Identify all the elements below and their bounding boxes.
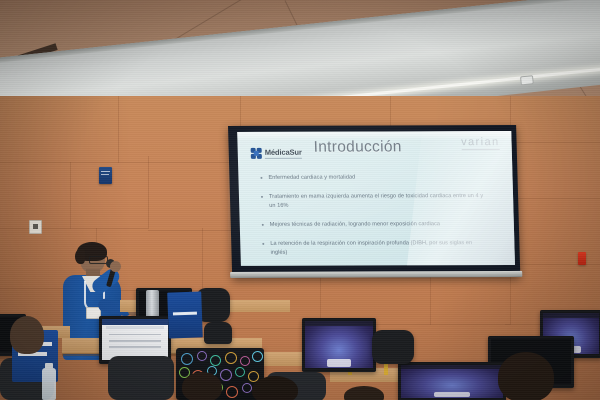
monitor-front-center — [302, 318, 376, 372]
presentation-slide: MédicaSur Introducción varian Enfermedad… — [237, 131, 515, 266]
wall-sign — [99, 167, 112, 184]
monitor-bottom-right — [398, 362, 506, 400]
varian-logo: varian — [461, 136, 500, 150]
varian-logo-rule — [461, 149, 499, 150]
slide-bullet-list: Enfermedad cardiaca y mortalidad Tratami… — [260, 173, 489, 266]
slide-bullet: Tratamiento en mama izquierda aumenta el… — [261, 192, 488, 211]
projection-screen: MédicaSur Introducción varian Enfermedad… — [228, 125, 520, 278]
fire-alarm-icon — [578, 252, 586, 265]
varian-logo-text: varian — [461, 136, 500, 148]
attendee-head-bottom — [344, 386, 384, 400]
presentation-room-photo: MédicaSur Introducción varian Enfermedad… — [0, 0, 600, 400]
screen-bottom-bar — [230, 271, 522, 278]
medicasur-logo-text: MédicaSur — [265, 148, 302, 159]
attendee-head-center — [182, 372, 222, 400]
slide-bullet: La retención de la respiración con inspi… — [262, 239, 489, 258]
medicasur-mark-icon — [251, 148, 262, 159]
chair-mesh-center — [108, 356, 174, 400]
slide-title: Introducción — [313, 138, 402, 156]
attendee-head-far-right — [498, 352, 554, 400]
attendee-head-left — [10, 316, 44, 354]
attendee-head-right — [252, 376, 298, 400]
chair-center — [204, 322, 232, 344]
slide-bullet: Enfermedad cardiaca y mortalidad — [260, 173, 486, 183]
wall-outlet — [29, 220, 42, 234]
slide-bullet: Mejores técnicas de radiación, logrando … — [262, 220, 488, 230]
chair-right — [372, 330, 414, 364]
blue-folder — [167, 291, 203, 338]
water-bottle — [42, 368, 56, 400]
medicasur-logo: MédicaSur — [251, 148, 302, 159]
